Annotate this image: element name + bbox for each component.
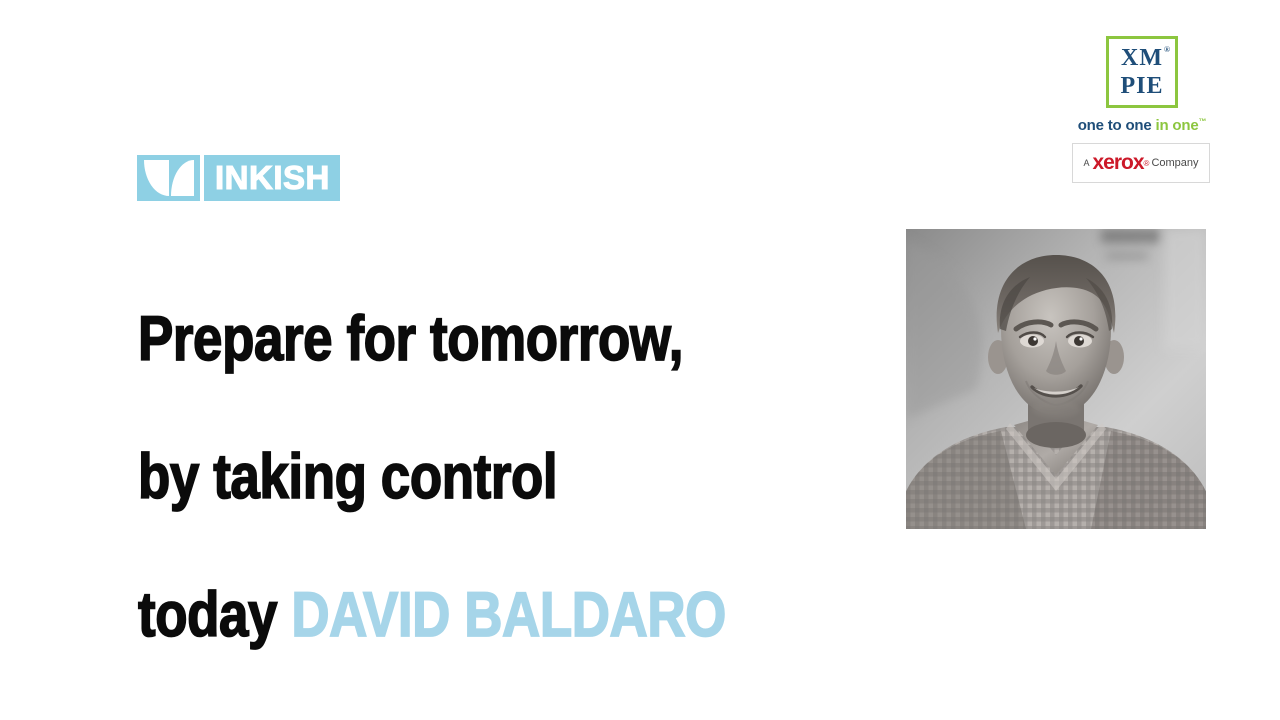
xmpie-sponsor-block[interactable]: XM® PIE one to one in one™ Axerox®Compan… <box>1072 36 1212 183</box>
inkish-leaf-left-shape <box>144 160 169 196</box>
inkish-wordmark: INKISH <box>204 155 340 201</box>
headline-line-2: by taking control <box>138 443 776 512</box>
xmpie-tagline-part-2: in one <box>1152 117 1199 134</box>
headline-line-3: today DAVID BALDARO <box>138 581 776 650</box>
speaker-name: DAVID BALDARO <box>291 580 726 650</box>
xerox-registered-icon: ® <box>1144 159 1150 168</box>
speaker-portrait-photo <box>906 229 1206 529</box>
portrait-illustration <box>906 229 1206 529</box>
slide-canvas: INKISH Prepare for tomorrow, by taking c… <box>0 0 1280 720</box>
xmpie-tagline-trademark-icon: ™ <box>1198 117 1206 126</box>
headline-block: Prepare for tomorrow, by taking control … <box>138 236 776 719</box>
xmpie-logo-line-2: PIE <box>1120 74 1163 98</box>
xerox-prefix-text: A <box>1083 158 1089 168</box>
xmpie-logo-xm-text: XM <box>1121 45 1163 71</box>
xerox-suffix-text: Company <box>1151 157 1198 169</box>
xmpie-logo-line-1: XM® <box>1121 46 1163 70</box>
inkish-leaf-right-shape <box>171 160 194 196</box>
xerox-company-badge: Axerox®Company <box>1072 143 1210 183</box>
inkish-logo[interactable]: INKISH <box>137 155 340 201</box>
headline-line-1: Prepare for tomorrow, <box>138 305 776 374</box>
xmpie-logo-box: XM® PIE <box>1106 36 1178 108</box>
xerox-wordmark: xerox <box>1092 151 1143 175</box>
inkish-leaf-mark-icon <box>137 155 200 201</box>
xmpie-tagline: one to one in one™ <box>1072 117 1212 134</box>
xmpie-registered-icon: ® <box>1164 46 1171 54</box>
headline-line-3-prefix: today <box>138 580 291 650</box>
xmpie-tagline-part-1: one to one <box>1078 117 1152 134</box>
